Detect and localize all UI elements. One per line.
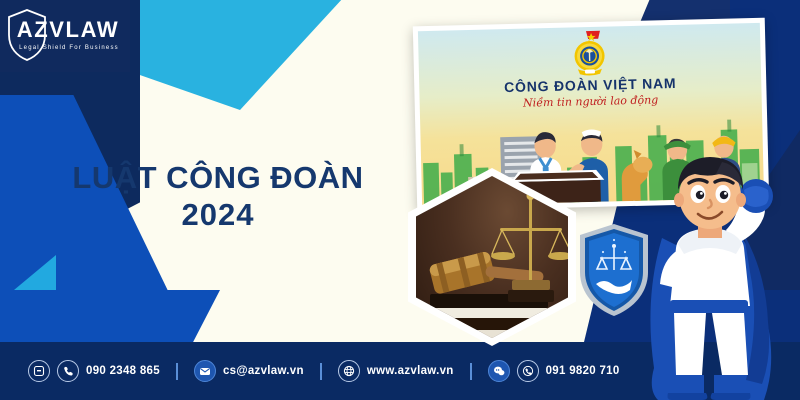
contact-divider xyxy=(470,363,472,380)
headline-year: 2024 xyxy=(38,196,398,235)
messenger-icon[interactable] xyxy=(488,360,510,382)
contact-divider xyxy=(176,363,178,380)
brand-logo[interactable]: AZVLAW Legal Shield For Business xyxy=(0,0,130,72)
decor-blue-parallelogram xyxy=(0,290,220,348)
phone-icon[interactable] xyxy=(57,360,79,382)
promo-banner: AZVLAW Legal Shield For Business LUẬT CÔ… xyxy=(0,0,800,400)
contact-phone-1: 090 2348 865 xyxy=(86,365,160,377)
vietnam-trade-union-emblem-icon xyxy=(567,29,612,78)
email-icon[interactable] xyxy=(194,360,216,382)
shield-icon xyxy=(6,8,48,62)
contact-item-phone-2[interactable]: 091 9820 710 xyxy=(488,360,620,382)
contact-website: www.azvlaw.vn xyxy=(367,365,454,377)
contact-item-phone-1[interactable]: 090 2348 865 xyxy=(28,360,160,382)
globe-icon[interactable] xyxy=(338,360,360,382)
justice-scene-illustration xyxy=(416,176,568,338)
contact-bar: 090 2348 865 cs@azvlaw.vn www.azvlaw.vn xyxy=(0,342,800,400)
contact-phone-2: 091 9820 710 xyxy=(546,365,620,377)
headline-block: LUẬT CÔNG ĐOÀN 2024 xyxy=(38,160,398,234)
headline-title: LUẬT CÔNG ĐOÀN xyxy=(38,160,398,196)
scales-of-justice-icon xyxy=(491,192,568,302)
decor-cyan-triangle-top xyxy=(120,0,420,110)
contact-divider xyxy=(320,363,322,380)
contact-email: cs@azvlaw.vn xyxy=(223,365,304,377)
contact-item-email[interactable]: cs@azvlaw.vn xyxy=(194,360,304,382)
phone-round-icon[interactable] xyxy=(517,360,539,382)
contact-item-website[interactable]: www.azvlaw.vn xyxy=(338,360,454,382)
zalo-icon[interactable] xyxy=(28,360,50,382)
